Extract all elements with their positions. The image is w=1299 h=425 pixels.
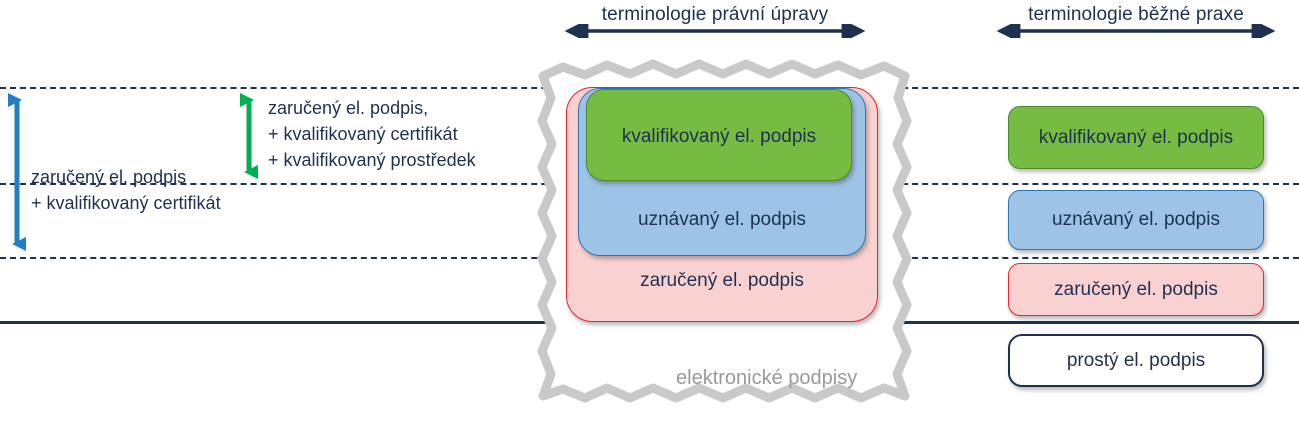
- cloud-caption: elektronické podpisy: [676, 367, 857, 390]
- header-legal-terminology: terminologie právní úpravy: [558, 4, 872, 26]
- practice-label-recognized: uznávaný el. podpis: [1052, 209, 1220, 231]
- diagram-canvas: terminologie právní úpravy terminologie …: [0, 0, 1299, 425]
- green-scope-arrow: [240, 88, 258, 184]
- practice-label-advanced: zaručený el. podpis: [1054, 279, 1218, 301]
- practice-box-advanced: zaručený el. podpis: [1008, 263, 1264, 316]
- practice-box-plain: prostý el. podpis: [1008, 334, 1264, 387]
- nested-label-qualified: kvalifikovaný el. podpis: [587, 126, 851, 148]
- header-practice-terminology: terminologie běžné praxe: [990, 4, 1282, 26]
- practice-terminology-arrow: [988, 24, 1284, 38]
- blue-scope-arrow: [8, 88, 26, 256]
- practice-label-plain: prostý el. podpis: [1067, 350, 1205, 372]
- annotation-blue-scope: zaručený el. podpis + kvalifikovaný cert…: [31, 164, 221, 216]
- nested-box-qualified: kvalifikovaný el. podpis: [586, 89, 852, 181]
- practice-label-qualified: kvalifikovaný el. podpis: [1039, 127, 1233, 149]
- practice-box-recognized: uznávaný el. podpis: [1008, 190, 1264, 250]
- nested-label-advanced: zaručený el. podpis: [567, 270, 877, 292]
- practice-box-qualified: kvalifikovaný el. podpis: [1008, 106, 1264, 169]
- legal-terminology-arrow: [556, 24, 874, 38]
- nested-label-recognized: uznávaný el. podpis: [579, 209, 865, 231]
- annotation-green-scope: zaručený el. podpis, + kvalifikovaný cer…: [268, 95, 476, 173]
